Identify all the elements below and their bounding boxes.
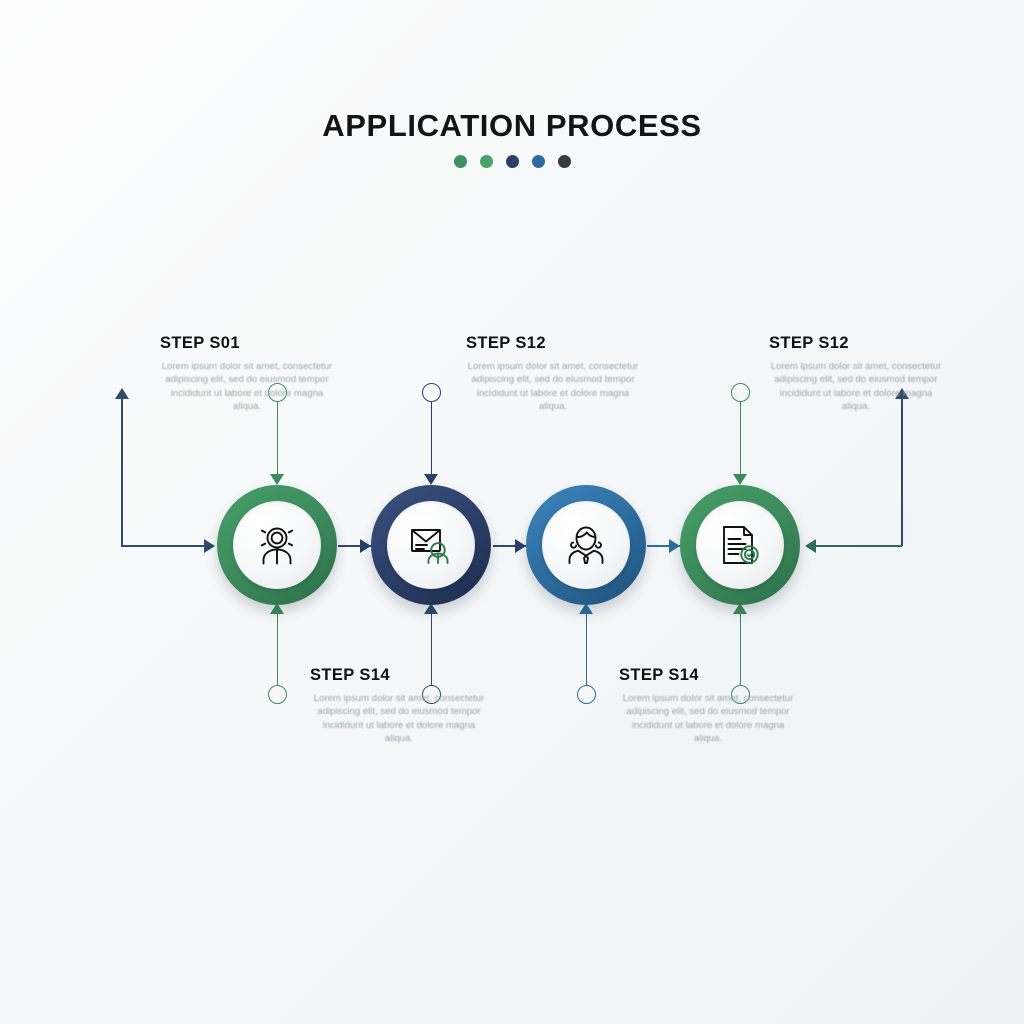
step-block-above-1: STEP S01 Lorem ipsum dolor sit amet, con… — [158, 334, 336, 414]
connector-node-above-line-3 — [740, 402, 742, 477]
process-node-3-face — [542, 501, 630, 589]
process-node-3[interactable] — [526, 485, 646, 605]
accent-dot-row — [0, 155, 1024, 168]
process-node-2[interactable] — [371, 485, 491, 605]
page-title: APPLICATION PROCESS — [0, 108, 1024, 144]
connector-node-above-line-2 — [431, 402, 433, 477]
process-node-4-face — [696, 501, 784, 589]
accent-dot-3 — [506, 155, 519, 168]
connector-node-below-line-2 — [586, 614, 588, 685]
exit-arrow-horizontal — [816, 545, 902, 547]
step-title: STEP S14 — [310, 666, 488, 685]
step-block-above-3: STEP S12 Lorem ipsum dolor sit amet, con… — [767, 334, 945, 414]
connector-node-above-arrowhead-2 — [424, 474, 438, 485]
step-body: Lorem ipsum dolor sit amet, consectetur … — [310, 692, 488, 746]
accent-dot-4 — [532, 155, 545, 168]
entry-arrow-head-up — [115, 388, 129, 399]
step-block-below-2: STEP S14 Lorem ipsum dolor sit amet, con… — [619, 666, 797, 746]
exit-arrow-vertical — [901, 398, 903, 546]
exit-arrow-head-left — [805, 539, 816, 553]
interviewer-icon — [560, 519, 612, 571]
step-body: Lorem ipsum dolor sit amet, consectetur … — [619, 692, 797, 746]
connector-2-3-arrowhead — [515, 539, 526, 553]
entry-arrow-vertical — [121, 398, 123, 546]
step-body: Lorem ipsum dolor sit amet, consectetur … — [464, 360, 642, 414]
connector-1-2-arrowhead — [360, 539, 371, 553]
accent-dot-1 — [454, 155, 467, 168]
step-body: Lorem ipsum dolor sit amet, consectetur … — [158, 360, 336, 414]
step-title: STEP S01 — [160, 334, 336, 353]
process-node-4[interactable] — [680, 485, 800, 605]
process-node-1[interactable] — [217, 485, 337, 605]
header: APPLICATION PROCESS — [0, 108, 1024, 168]
step-title: STEP S12 — [466, 334, 642, 353]
connector-3-4-arrowhead — [669, 539, 680, 553]
connector-node-below-circle-2 — [577, 685, 596, 704]
mail-applicant-icon — [405, 519, 457, 571]
process-node-2-face — [387, 501, 475, 589]
step-title: STEP S14 — [619, 666, 797, 685]
step-body: Lorem ipsum dolor sit amet, consectetur … — [767, 360, 945, 414]
connector-node-above-circle-2 — [422, 383, 441, 402]
step-block-above-2: STEP S12 Lorem ipsum dolor sit amet, con… — [464, 334, 642, 414]
connector-node-below-circle-3 — [268, 685, 287, 704]
entry-arrow-head-right — [204, 539, 215, 553]
entry-arrow-horizontal — [121, 545, 204, 547]
connector-node-below-line-3 — [277, 614, 279, 685]
user-target-icon — [251, 519, 303, 571]
connector-node-above-circle-3 — [731, 383, 750, 402]
accent-dot-2 — [480, 155, 493, 168]
connector-node-above-arrowhead-3 — [733, 474, 747, 485]
infographic-canvas: APPLICATION PROCESS — [0, 0, 1024, 1024]
step-block-below-1: STEP S14 Lorem ipsum dolor sit amet, con… — [310, 666, 488, 746]
accent-dot-5 — [558, 155, 571, 168]
connector-node-above-arrowhead-1 — [270, 474, 284, 485]
document-check-icon — [714, 519, 766, 571]
step-title: STEP S12 — [769, 334, 945, 353]
process-node-1-face — [233, 501, 321, 589]
